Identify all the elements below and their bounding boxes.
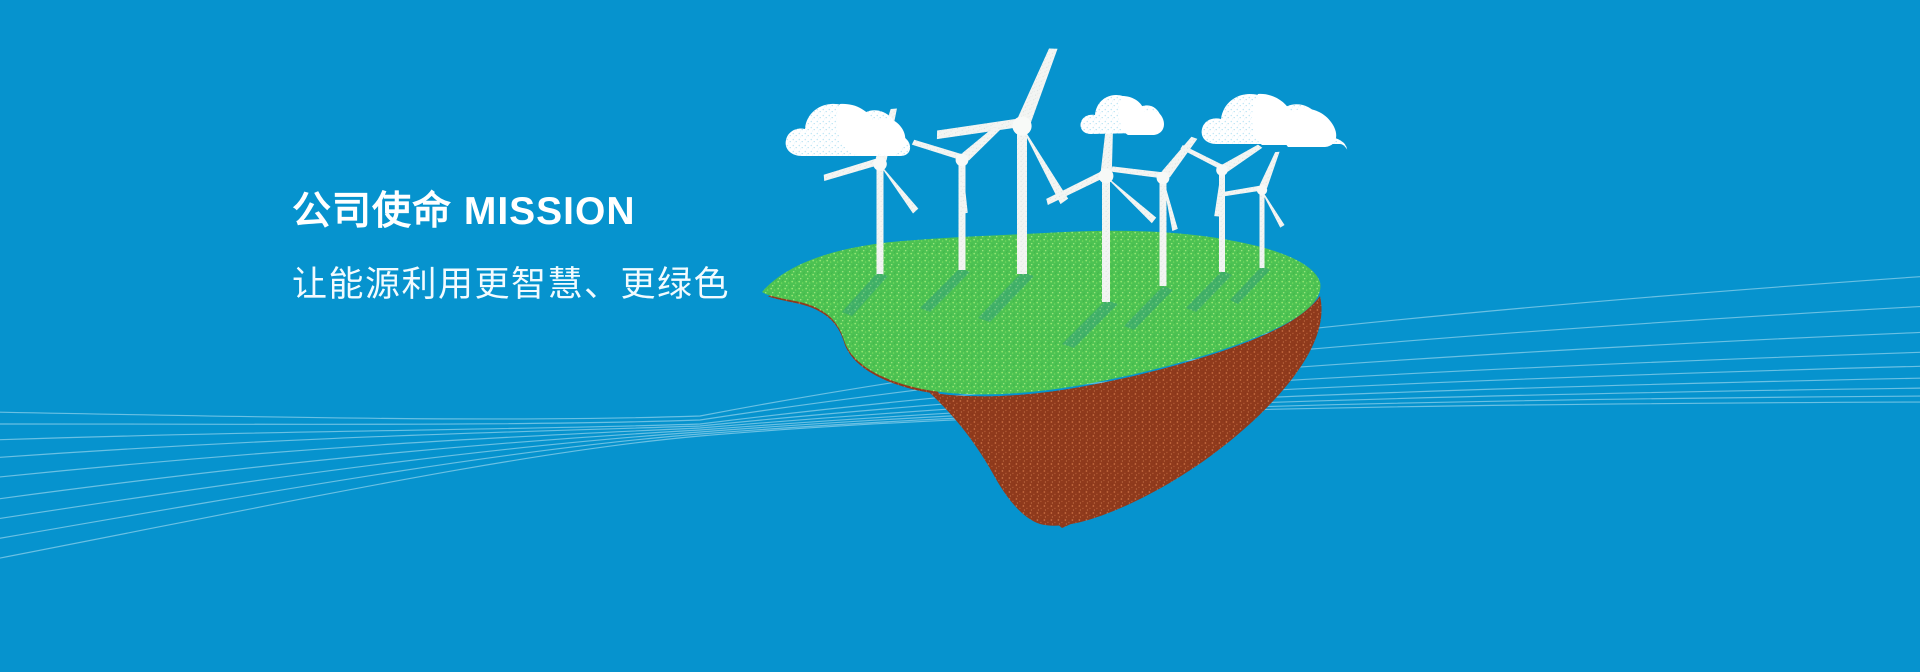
mission-text-block: 公司使命 MISSION 让能源利用更智慧、更绿色 <box>292 190 812 306</box>
mission-banner: 公司使命 MISSION 让能源利用更智慧、更绿色 <box>0 0 1920 672</box>
cloud-right <box>1202 94 1348 150</box>
cloud-middle <box>1080 95 1164 135</box>
page-title: 公司使命 MISSION <box>292 190 812 235</box>
mission-subtitle: 让能源利用更智慧、更绿色 <box>292 264 812 306</box>
floating-island-illustration <box>740 30 1400 550</box>
